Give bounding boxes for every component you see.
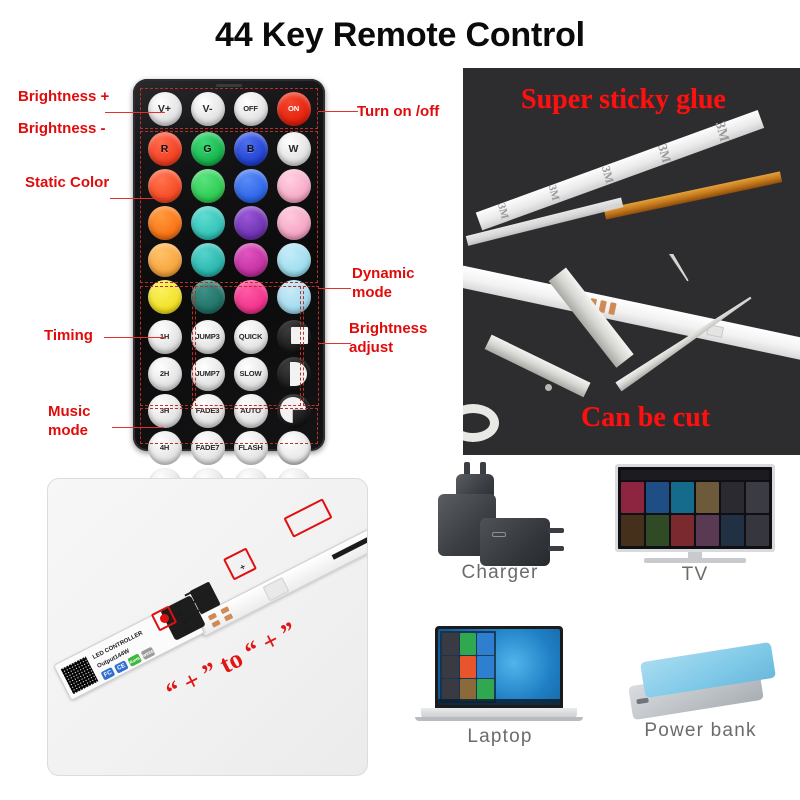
key-label: V- bbox=[203, 103, 213, 115]
device-laptop: Laptop bbox=[405, 622, 595, 752]
key-color-amber[interactable] bbox=[148, 243, 182, 277]
leader-music bbox=[112, 427, 164, 428]
key-jump3[interactable]: JUMP3 bbox=[191, 320, 225, 354]
key-jump7[interactable]: JUMP7 bbox=[191, 357, 225, 391]
laptop-screen bbox=[435, 626, 563, 708]
charger-body-front bbox=[480, 518, 550, 566]
tv-tile bbox=[746, 482, 769, 513]
key-color-red[interactable]: R bbox=[148, 132, 182, 166]
tv-frame bbox=[615, 464, 775, 552]
scissors-shank-lower bbox=[485, 335, 591, 398]
key-color-green[interactable]: G bbox=[191, 132, 225, 166]
callout-brightness-adjust: Brightness adjust bbox=[349, 320, 427, 358]
strip-pad bbox=[224, 613, 233, 621]
menu-tile bbox=[460, 633, 477, 655]
remote-color-row-2 bbox=[143, 167, 315, 204]
remote-top-row: V+ V- OFF ON bbox=[143, 90, 315, 127]
remote-function-row-3: 3H FADE3 AUTO bbox=[143, 392, 315, 429]
key-timer-2h[interactable]: 2H bbox=[148, 357, 182, 391]
led-strip-copper-edge bbox=[604, 171, 782, 219]
key-label: FLASH bbox=[238, 443, 262, 452]
brightness-75-icon bbox=[280, 397, 307, 424]
leader-timing bbox=[104, 337, 166, 338]
key-brightness-up[interactable]: V+ bbox=[148, 92, 182, 126]
strip-pad bbox=[220, 606, 229, 614]
key-label: W bbox=[289, 143, 299, 155]
key-label: FADE3 bbox=[196, 406, 219, 415]
tv-tile bbox=[671, 515, 694, 546]
tv-tile bbox=[721, 482, 744, 513]
leader-turn-on-off bbox=[318, 111, 358, 112]
tape-mark-3m: 3M bbox=[654, 142, 674, 164]
scissors-blade-upper bbox=[615, 254, 692, 284]
charger-prong bbox=[548, 546, 564, 551]
remote-color-row-5 bbox=[143, 278, 315, 315]
key-color-lightblue-2[interactable] bbox=[277, 280, 311, 314]
remote-function-row-2: 2H JUMP7 SLOW bbox=[143, 355, 315, 392]
callout-turn-on-off: Turn on /off bbox=[357, 103, 439, 122]
key-color-pink-1[interactable] bbox=[277, 169, 311, 203]
tv-screen bbox=[618, 467, 772, 549]
tv-tile bbox=[696, 482, 719, 513]
tv-tile bbox=[621, 482, 644, 513]
key-label: JUMP3 bbox=[195, 332, 219, 341]
laptop-start-menu bbox=[440, 631, 496, 703]
device-label-tv: TV bbox=[610, 564, 780, 586]
key-label: B bbox=[247, 143, 255, 155]
key-quick[interactable]: QUICK bbox=[234, 320, 268, 354]
highlight-box-strip-end bbox=[283, 498, 332, 538]
tv-stand-base bbox=[644, 558, 746, 563]
key-label: ON bbox=[288, 104, 299, 113]
tv-tile bbox=[646, 482, 669, 513]
tape-mark-3m: 3M bbox=[495, 202, 511, 220]
menu-tile bbox=[477, 679, 494, 701]
caption-can-be-cut: Can be cut bbox=[581, 402, 710, 434]
strip-pad bbox=[211, 620, 220, 628]
remote-color-row-4 bbox=[143, 241, 315, 278]
key-timer-4h[interactable]: 4H bbox=[148, 431, 182, 465]
leader-brightness bbox=[105, 112, 165, 113]
key-label: R bbox=[161, 143, 169, 155]
key-brightness-down[interactable]: V- bbox=[191, 92, 225, 126]
key-color-pink-2[interactable] bbox=[277, 206, 311, 240]
tape-mark-3m: 3M bbox=[546, 184, 562, 202]
tv-tile bbox=[721, 515, 744, 546]
key-fade7[interactable]: FADE7 bbox=[191, 431, 225, 465]
key-off[interactable]: OFF bbox=[234, 92, 268, 126]
cert-rohs-icon: RoHS bbox=[127, 653, 142, 666]
key-auto[interactable]: AUTO bbox=[234, 394, 268, 428]
menu-tile bbox=[442, 633, 459, 655]
page-title: 44 Key Remote Control bbox=[0, 16, 800, 55]
key-label: QUICK bbox=[239, 332, 262, 341]
callout-timing: Timing bbox=[44, 327, 93, 346]
key-color-magenta-2[interactable] bbox=[234, 280, 268, 314]
key-timer-3h[interactable]: 3H bbox=[148, 394, 182, 428]
key-slow[interactable]: SLOW bbox=[234, 357, 268, 391]
power-bank-port bbox=[636, 698, 649, 705]
key-color-darkteal[interactable] bbox=[191, 280, 225, 314]
led-chip bbox=[263, 577, 290, 601]
brightness-25-icon bbox=[291, 327, 308, 344]
device-power-bank: Power bank bbox=[608, 628, 793, 753]
menu-tile bbox=[460, 656, 477, 678]
menu-tile bbox=[477, 633, 494, 655]
laptop-desktop bbox=[438, 629, 560, 705]
remote-function-row-1: 1H JUMP3 QUICK bbox=[143, 318, 315, 355]
cut-pad bbox=[608, 302, 616, 315]
tv-tile bbox=[621, 515, 644, 546]
menu-tile bbox=[442, 679, 459, 701]
key-color-magenta-1[interactable] bbox=[234, 243, 268, 277]
key-label: JUMP7 bbox=[195, 369, 219, 378]
key-label: FADE7 bbox=[196, 443, 219, 452]
cert-ce-icon: CE bbox=[114, 660, 129, 673]
device-label-charger: Charger bbox=[420, 562, 580, 584]
key-fade3[interactable]: FADE3 bbox=[191, 394, 225, 428]
key-color-green-2[interactable] bbox=[191, 169, 225, 203]
laptop-foot bbox=[415, 717, 583, 721]
key-on[interactable]: ON bbox=[277, 92, 311, 126]
tv-tile bbox=[746, 515, 769, 546]
callout-brightness-down: Brightness - bbox=[18, 120, 106, 139]
charger-usb-port bbox=[492, 532, 506, 537]
strip-trace bbox=[332, 537, 368, 560]
remote-color-row-3 bbox=[143, 204, 315, 241]
callout-dynamic-mode: Dynamic mode bbox=[352, 265, 415, 303]
scissors-pivot bbox=[545, 384, 552, 391]
infographic-canvas: 44 Key Remote Control V+ V- OFF ON R G B… bbox=[0, 0, 800, 800]
remote-color-row-1: R G B W bbox=[143, 130, 315, 167]
key-label: OFF bbox=[243, 104, 258, 113]
key-color-teal-1[interactable] bbox=[191, 206, 225, 240]
leader-dynamic-mode bbox=[318, 288, 351, 289]
device-label-power-bank: Power bank bbox=[608, 720, 793, 742]
key-label: SLOW bbox=[240, 369, 262, 378]
qr-code bbox=[61, 656, 99, 694]
key-color-white[interactable]: W bbox=[277, 132, 311, 166]
menu-tile bbox=[460, 679, 477, 701]
scissors-handle bbox=[463, 404, 499, 442]
callout-brightness-up: Brightness + bbox=[18, 88, 109, 107]
cert-weee-icon: WEEE bbox=[141, 647, 156, 660]
tv-tile bbox=[671, 482, 694, 513]
photo-can-be-cut: Can be cut bbox=[463, 254, 800, 455]
key-color-blue-2[interactable] bbox=[234, 169, 268, 203]
key-label: 4H bbox=[160, 443, 169, 452]
key-color-orange[interactable] bbox=[148, 206, 182, 240]
tv-tile bbox=[696, 515, 719, 546]
charger-prong bbox=[548, 528, 564, 533]
panel-connection-guide: + LED CONTROLLER Output144W FC CE RoHS W… bbox=[47, 478, 368, 776]
key-color-blue[interactable]: B bbox=[234, 132, 268, 166]
controller-plus-dot bbox=[160, 614, 169, 623]
key-brightness-50[interactable] bbox=[277, 357, 311, 391]
brightness-50-icon bbox=[290, 362, 307, 386]
tv-ui-bar bbox=[621, 470, 769, 480]
leader-static-color bbox=[110, 198, 165, 199]
cert-fcc-icon: FC bbox=[101, 667, 116, 680]
key-label: AUTO bbox=[240, 406, 261, 415]
tape-mark-3m: 3M bbox=[711, 120, 732, 144]
tape-mark-3m: 3M bbox=[598, 164, 617, 185]
key-color-purple[interactable] bbox=[234, 206, 268, 240]
remote-function-row-4: 4H FADE7 FLASH bbox=[143, 429, 315, 466]
key-color-lightblue-1[interactable] bbox=[277, 243, 311, 277]
key-brightness-25[interactable] bbox=[277, 320, 311, 354]
key-flash[interactable]: FLASH bbox=[234, 431, 268, 465]
remote-control: V+ V- OFF ON R G B W bbox=[133, 79, 325, 451]
key-color-teal-2[interactable] bbox=[191, 243, 225, 277]
key-label: 2H bbox=[160, 369, 169, 378]
menu-tile bbox=[442, 656, 459, 678]
laptop-taskbar bbox=[438, 699, 560, 705]
menu-tile bbox=[477, 656, 494, 678]
key-color-yellow[interactable] bbox=[148, 280, 182, 314]
key-label: G bbox=[203, 143, 211, 155]
leader-brightness-adjust bbox=[318, 343, 351, 344]
key-label: 3H bbox=[160, 406, 169, 415]
key-brightness-75[interactable] bbox=[277, 394, 311, 428]
tv-tile bbox=[646, 515, 669, 546]
photo-sticky-glue: 3M 3M 3M 3M 3M Super sticky glue bbox=[463, 68, 800, 254]
callout-static-color: Static Color bbox=[25, 174, 109, 193]
strip-pad bbox=[208, 613, 217, 621]
device-tv: TV bbox=[610, 462, 780, 587]
caption-super-sticky-glue: Super sticky glue bbox=[521, 84, 726, 116]
device-charger: Charger bbox=[420, 462, 580, 587]
device-label-laptop: Laptop bbox=[405, 726, 595, 748]
callout-music-mode: Music mode bbox=[48, 403, 91, 441]
key-brightness-100[interactable] bbox=[277, 431, 311, 465]
